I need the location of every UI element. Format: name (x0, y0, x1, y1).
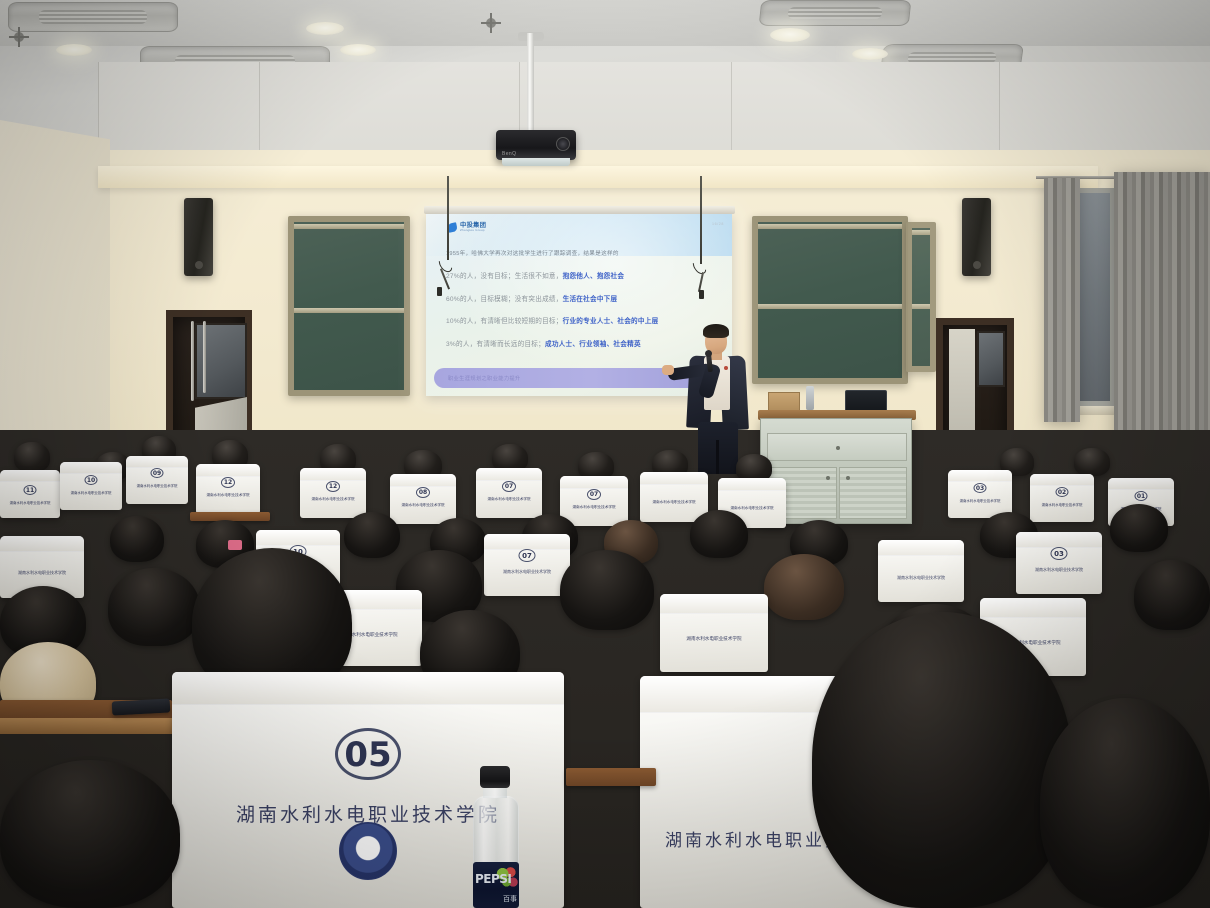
audience-head (344, 512, 400, 558)
seat-org-text: 湖南水利水电职业技术学院 (730, 506, 773, 511)
seat-org-text: 湖南水利水电职业技术学院 (18, 570, 66, 576)
cord-weight-left (437, 287, 442, 296)
seat-number: 09 (151, 468, 164, 478)
college-crest-emblem (339, 822, 397, 880)
seat[interactable]: 湖南水利水电职业技术学院 (660, 594, 768, 672)
projector-brand-label: BenQ (502, 151, 516, 157)
seat-org-text: 湖南水利水电职业技术学院 (1042, 502, 1083, 507)
curtain-left-panel[interactable] (1044, 178, 1080, 422)
pink-item (228, 540, 242, 550)
seat-number: 05 (335, 728, 401, 780)
seat-number: 07 (502, 481, 516, 492)
podium-cardboard-box (768, 392, 800, 412)
seat[interactable]: 07 湖南水利水电职业技术学院 (560, 476, 628, 526)
seat-number: 11 (24, 485, 37, 495)
seat-org-text: 湖南水利水电职业技术学院 (401, 503, 444, 508)
water-drop-logo-icon (447, 222, 458, 233)
screen-pull-cord-right[interactable] (700, 176, 702, 264)
slide-line: 27%的人，没有目标；生活很不如意，抱怨他人、抱怨社会 (446, 270, 722, 280)
seat[interactable]: 12 湖南水利水电职业技术学院 (300, 468, 366, 518)
sprinkler-icon (486, 18, 496, 28)
curtain-right-panel[interactable] (1114, 172, 1210, 472)
door-push-bar[interactable] (191, 321, 194, 401)
slide-line-highlight: 成功人士、行业领袖、社会精英 (545, 341, 641, 348)
podium-knob-icon (836, 446, 840, 450)
seat[interactable]: 湖南水利水电职业技术学院 (878, 540, 964, 602)
blackboard-right (752, 216, 908, 384)
podium-bottle (806, 386, 814, 410)
soffit-beam (98, 166, 1098, 188)
wall-speaker-right (962, 198, 991, 276)
slide-line: 60%的人，目标模糊；没有突出成绩，生活在社会中下层 (446, 293, 722, 303)
slide-lead-text: 1955年，哈佛大学再次对这批学生进行了跟踪调查，结果是这样的 (446, 251, 714, 258)
seat-number: 07 (587, 489, 601, 500)
podium-drawer[interactable] (767, 433, 907, 461)
seat-number: 03 (974, 483, 987, 493)
podium-cabinet-door[interactable] (839, 467, 907, 519)
audience-head (110, 516, 164, 562)
door-glass-panel (977, 331, 1005, 387)
audience-head (14, 442, 50, 472)
seat[interactable]: 湖南水利水电职业技术学院 (640, 472, 708, 522)
seat[interactable]: 09 湖南水利水电职业技术学院 (126, 456, 188, 504)
bottle-label: PEPSI 百事 (473, 862, 519, 908)
wall-speaker-left (184, 198, 213, 276)
audience-head (1074, 448, 1110, 476)
seat-org-text: 湖南水利水电职业技术学院 (1035, 567, 1083, 573)
slide-logo: 中投集团 Zhongtou Group (448, 223, 486, 232)
lecture-hall-photo: BenQ 中投集团 Zhongtou Group 16/28 1955年，哈佛大… (0, 0, 1210, 908)
seat-org-text: 湖南水利水电职业技术学院 (137, 483, 178, 488)
audience-head-foreground-far-left (0, 760, 180, 908)
seat-org-text: 湖南水利水电职业技术学院 (487, 497, 530, 502)
slide-line-prefix: 27%的人，没有目标；生活很不如意， (446, 273, 563, 280)
slide-line-highlight: 抱怨他人、抱怨社会 (563, 273, 625, 280)
water-bottle[interactable]: PEPSI 百事 (470, 766, 522, 908)
audience-head (1134, 560, 1210, 630)
bottle-cap[interactable] (480, 766, 510, 788)
seat-number: 10 (85, 475, 98, 485)
seat-org-text: 湖南水利水电职业技术学院 (206, 493, 249, 498)
bottle-brand: PEPSI (475, 872, 511, 886)
ceiling-light (56, 44, 92, 56)
audience-head (690, 510, 748, 558)
seat-org-text: 湖南水利水电职业技术学院 (71, 490, 112, 495)
podium-knob-icon (826, 476, 830, 480)
seat-org-text: 湖南水利水电职业技术学院 (503, 569, 551, 575)
seat[interactable]: 03 湖南水利水电职业技术学院 (1016, 532, 1102, 594)
slide-line-prefix: 60%的人，目标模糊；没有突出成绩， (446, 296, 563, 303)
audience-head (560, 550, 654, 630)
audience-head (764, 554, 844, 620)
seat[interactable]: 02 湖南水利水电职业技术学院 (1030, 474, 1094, 522)
seat[interactable]: 10 湖南水利水电职业技术学院 (60, 462, 122, 510)
audience-head-foreground-far-right (1040, 698, 1210, 908)
slide-page-code: 16/28 (712, 222, 724, 226)
presenter-hair (703, 324, 729, 338)
audience-head (1110, 504, 1168, 552)
blackboard-left (288, 216, 410, 396)
podium-monitor (845, 390, 887, 412)
seat-org-text: 湖南水利水电职业技术学院 (960, 498, 1001, 503)
seat[interactable]: 11 湖南水利水电职业技术学院 (0, 470, 60, 518)
seat-number: 01 (1135, 491, 1148, 501)
ac-vent-icon (8, 2, 178, 32)
slide-line-prefix: 10%的人，有清晰但比较短期的目标； (446, 318, 563, 325)
desk (566, 768, 656, 786)
slide-logo-en: Zhongtou Group (460, 229, 486, 232)
ceiling-far-band (0, 0, 1210, 46)
audience-head (108, 568, 200, 646)
slide-line-prefix: 3%的人，有清晰而长远的目标； (446, 341, 545, 348)
seat[interactable]: 08 湖南水利水电职业技术学院 (390, 474, 456, 524)
ac-vent-icon (759, 0, 912, 26)
seat-org-text: 湖南水利水电职业技术学院 (652, 500, 695, 505)
ceiling-light (306, 22, 344, 35)
seat-org-text: 湖南水利水电职业技术学院 (572, 505, 615, 510)
bottle-brand-cn: 百事 (503, 894, 517, 904)
ceiling-light (852, 48, 888, 60)
projector-lens-icon (556, 137, 570, 151)
slide-line-highlight: 行业的专业人士、社会的中上层 (563, 318, 659, 325)
slide-line-highlight: 生活在社会中下层 (563, 296, 618, 303)
door-push-bar[interactable] (203, 321, 206, 393)
slide-footer-title: 职业生涯规划之职业能力提升 (448, 375, 521, 382)
seat[interactable]: 03 湖南水利水电职业技术学院 (948, 470, 1012, 518)
presenter-lapel-pin (724, 366, 728, 370)
projector-pole (527, 33, 534, 135)
seat-number: 02 (1056, 487, 1069, 497)
blackboard-far-right (906, 222, 936, 372)
seat-number: 08 (416, 487, 430, 498)
ceiling-projector: BenQ (496, 130, 576, 160)
seat-number: 07 (519, 549, 536, 562)
seat-number: 12 (326, 481, 340, 492)
projector-tray (502, 158, 570, 166)
seat[interactable]: 07 湖南水利水电职业技术学院 (476, 468, 542, 518)
sprinkler-icon (14, 32, 24, 42)
seat[interactable]: 07 湖南水利水电职业技术学院 (484, 534, 570, 596)
cord-weight-right (699, 290, 704, 299)
seat-org-text: 湖南水利水电职业技术学院 (897, 575, 945, 581)
seat-org-text: 湖南水利水电职业技术学院 (10, 500, 51, 505)
audience-head-foreground-right (812, 612, 1072, 908)
seat-number: 03 (1051, 547, 1068, 560)
podium-knob-icon (846, 476, 850, 480)
ceiling-light (340, 44, 376, 56)
seat-org-text: 湖南水利水电职业技术学院 (311, 497, 354, 502)
presenter (680, 322, 760, 472)
seat-number: 12 (221, 477, 235, 488)
screen-pull-cord-left[interactable] (447, 176, 449, 260)
presenter-pointing-hand (662, 365, 674, 375)
screen-housing (424, 206, 735, 214)
ceiling-light (770, 28, 810, 42)
desk-front (0, 718, 172, 734)
seat-org-text: 湖南水利水电职业技术学院 (686, 636, 741, 642)
seat[interactable]: 12 湖南水利水电职业技术学院 (196, 464, 260, 514)
slide-background-art (426, 214, 732, 256)
presenter-legs (698, 422, 738, 474)
